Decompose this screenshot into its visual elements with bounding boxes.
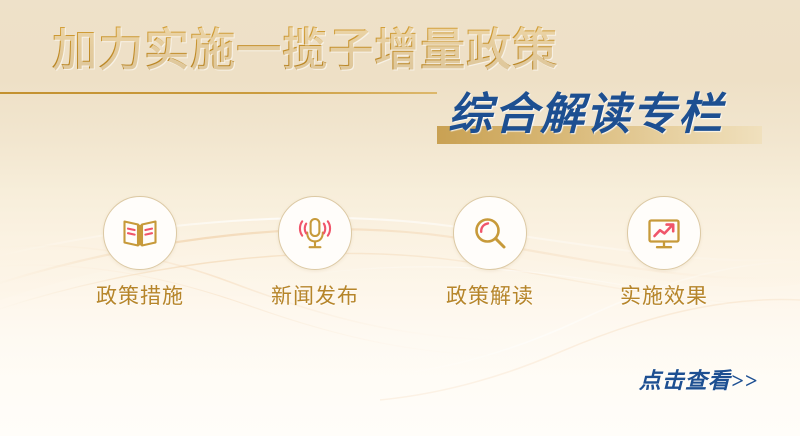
magnifier-icon — [470, 213, 510, 253]
category-item-policy-interpretation[interactable]: 政策解读 — [430, 196, 550, 308]
icon-circle-news-release[interactable] — [278, 196, 352, 270]
category-item-policy-measures[interactable]: 政策措施 — [80, 196, 200, 308]
icon-circle-policy-measures[interactable] — [103, 196, 177, 270]
banner-title-primary: 加力实施一揽子增量政策 — [52, 22, 558, 78]
policy-banner: 加力实施一揽子增量政策 综合解读专栏 政策措施 — [0, 0, 800, 436]
category-label-policy-interpretation: 政策解读 — [430, 284, 550, 308]
open-book-icon — [120, 213, 160, 253]
category-label-policy-measures: 政策措施 — [80, 284, 200, 308]
category-item-news-release[interactable]: 新闻发布 — [255, 196, 375, 308]
category-item-implementation-effect[interactable]: 实施效果 — [604, 196, 724, 308]
click-to-view-link[interactable]: 点击查看>> — [639, 368, 758, 394]
microphone-icon — [295, 213, 335, 253]
category-label-news-release: 新闻发布 — [255, 284, 375, 308]
chart-monitor-icon — [644, 213, 684, 253]
category-icon-row: 政策措施 新闻发布 — [0, 196, 800, 326]
title-divider-rule — [0, 92, 437, 94]
icon-circle-implementation-effect[interactable] — [627, 196, 701, 270]
category-label-implementation-effect: 实施效果 — [604, 284, 724, 308]
icon-circle-policy-interpretation[interactable] — [453, 196, 527, 270]
banner-title-secondary: 综合解读专栏 — [448, 88, 724, 142]
